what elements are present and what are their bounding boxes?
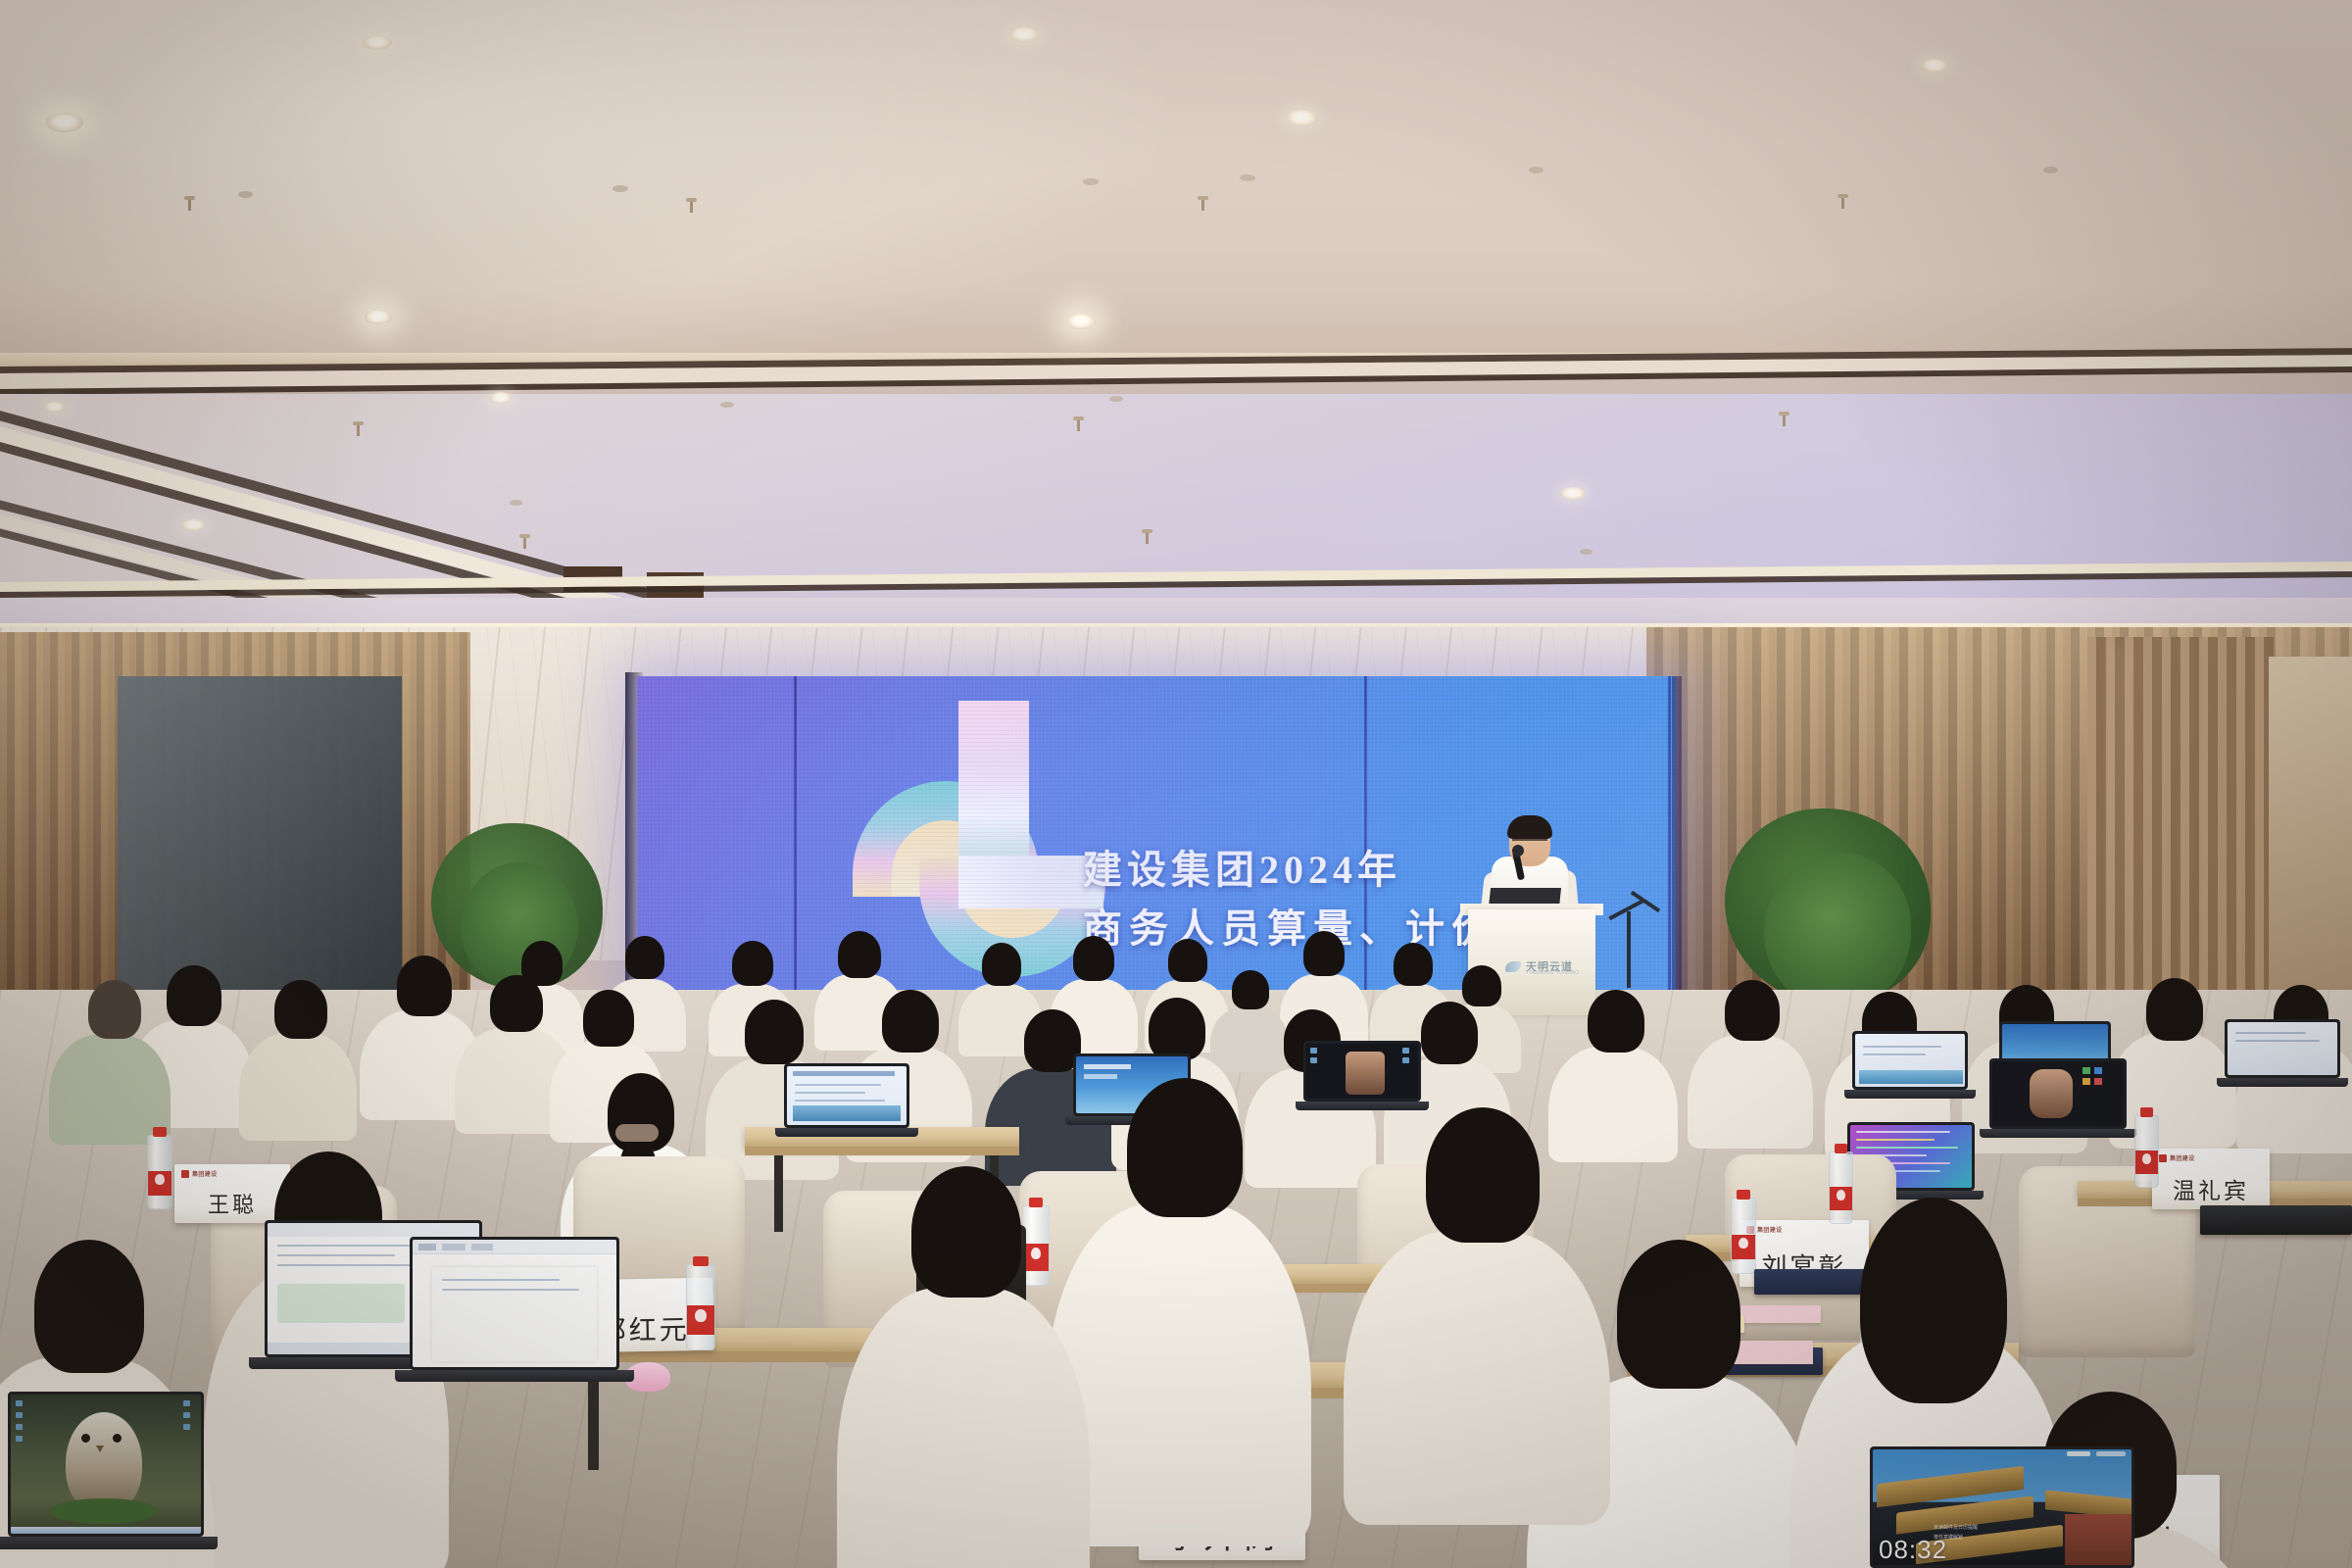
led-panel-seam: [1668, 676, 1671, 1009]
attendee-laptop[interactable]: [1852, 1031, 1968, 1090]
attendee-laptop-owl-wallpaper[interactable]: [8, 1392, 204, 1537]
notebook: [2200, 1205, 2352, 1235]
ceiling-downlight: [2043, 167, 2058, 173]
laptop-screen: [1992, 1061, 2124, 1126]
sprinkler-head-icon: [1837, 194, 1848, 210]
placard-org-logo: 集团建设: [181, 1169, 218, 1178]
slide-title-line-1: 建设集团2024年: [1083, 838, 1401, 895]
name-placard: 集团建设 王聪: [174, 1164, 290, 1223]
ceiling-downlight: [1109, 396, 1123, 402]
bottle-cap: [1835, 1144, 1847, 1153]
ceiling-downlight: [1009, 27, 1039, 42]
bottle-cap: [1029, 1198, 1044, 1207]
ceiling-downlight: [1240, 174, 1255, 181]
ceiling-downlight: [720, 402, 734, 408]
ceiling-downlight: [365, 310, 392, 324]
palace-hall: [2065, 1514, 2131, 1565]
attendee-laptop[interactable]: [784, 1063, 909, 1128]
ceiling-upper-plane: [0, 0, 2352, 365]
sprinkler-head-icon: [519, 534, 530, 550]
ceiling-downlight: [1921, 59, 1948, 73]
owl-perch: [50, 1498, 158, 1524]
ceiling-downlight: [1083, 178, 1099, 185]
ceiling-downlight: [1529, 167, 1543, 173]
bottle-label: [1732, 1235, 1755, 1260]
potted-plant-right-foliage: [1764, 853, 1911, 1009]
ceiling-downlight: [1066, 314, 1096, 329]
podium-brand-logo: 天明云道 TIANMING YUNDAO: [1505, 958, 1588, 975]
sprinkler-head-icon: [1198, 196, 1208, 212]
bottle-label: [148, 1171, 171, 1196]
bottle-label: [687, 1305, 714, 1334]
attendee-laptop[interactable]: [1303, 1041, 1421, 1102]
laptop-screen: [11, 1395, 201, 1534]
org-mark-icon: [2159, 1154, 2167, 1162]
sprinkler-head-icon: [1142, 529, 1152, 545]
logo-s-lower-inner: [958, 857, 1066, 938]
screen-bezel-right: [1672, 676, 1682, 1009]
org-mark-icon: [181, 1170, 189, 1178]
ceiling-downlight: [363, 35, 392, 50]
desk-edge: [745, 1147, 1019, 1155]
attendee-laptop-video-call[interactable]: [1989, 1058, 2127, 1129]
ceiling-downlight: [612, 185, 628, 192]
desk-leg: [774, 1155, 783, 1232]
bottle-cap: [693, 1256, 709, 1266]
logo-l-horizontal: [958, 856, 1103, 908]
laptop-screen: [787, 1066, 906, 1125]
ceiling-downlight: [1286, 110, 1317, 126]
ceiling-downlight: [510, 500, 522, 506]
attendee-laptop[interactable]: [2225, 1019, 2340, 1078]
placard-org-text: 集团建设: [1757, 1225, 1783, 1234]
sprinkler-head-icon: [1779, 412, 1789, 427]
podium-brand-subtext: TIANMING YUNDAO: [1526, 970, 1580, 976]
placard-org-text: 集团建设: [2170, 1153, 2195, 1162]
led-panel-seam: [794, 676, 797, 1009]
ceiling-downlight: [490, 392, 512, 404]
laptop-screen: 未读邮件及日历提醒 按任意键解锁 08:32: [1873, 1449, 2131, 1565]
water-bottle: [1829, 1151, 1853, 1224]
microphone-capsule: [1512, 845, 1524, 857]
water-bottle: [1731, 1198, 1756, 1274]
ceiling-downlight: [1580, 549, 1592, 555]
attendee-laptop[interactable]: [410, 1237, 619, 1370]
speaker-hair: [1507, 815, 1552, 839]
owl-beak: [96, 1445, 104, 1452]
placard-org-text: 集团建设: [192, 1169, 218, 1178]
ceiling-downlight: [1560, 487, 1586, 500]
lockscreen-info-text: [2067, 1451, 2090, 1456]
lockscreen-info-text: [2096, 1451, 2126, 1456]
owl-eye: [113, 1434, 122, 1443]
laptop-screen: [2228, 1022, 2337, 1075]
sprinkler-head-icon: [353, 421, 364, 437]
logo-s-upper-arc: [853, 781, 1039, 897]
logo-l-vertical: [958, 701, 1029, 908]
bottle-label: [1023, 1244, 1049, 1270]
placard-org-logo: 集团建设: [2159, 1153, 2195, 1162]
ceiling-downlight: [181, 519, 206, 531]
water-bottle: [2134, 1115, 2159, 1188]
ceiling-downlight: [44, 402, 66, 413]
ceiling-downlight: [46, 113, 83, 132]
swoosh-icon: [1505, 961, 1521, 972]
laptop-screen: [1855, 1034, 1965, 1087]
bottle-cap: [1737, 1190, 1749, 1200]
lockscreen-notification-1: 未读邮件及日历提醒: [1934, 1524, 1978, 1531]
led-panel-seam: [1364, 676, 1367, 1009]
sprinkler-head-icon: [686, 198, 697, 214]
attendee-laptop-lockscreen[interactable]: 未读邮件及日历提醒 按任意键解锁 08:32: [1870, 1446, 2134, 1568]
lockscreen-clock: 08:32: [1879, 1535, 1947, 1565]
conference-room-photo: 建设集团2024年 商务人员算量、计价培训 天明云道 TIANMING YUND…: [0, 0, 2352, 1568]
ceiling-downlight: [238, 191, 253, 198]
windows-taskbar[interactable]: [11, 1527, 201, 1534]
bottle-cap: [153, 1127, 166, 1137]
name-placard: 集团建设 温礼宾: [2152, 1149, 2270, 1209]
water-bottle: [147, 1135, 172, 1209]
owl-eye: [81, 1434, 90, 1443]
mic-stand: [1627, 911, 1631, 988]
bottle-cap: [2140, 1107, 2153, 1117]
bottle-label: [2135, 1151, 2158, 1174]
laptop-screen: [413, 1240, 616, 1367]
sprinkler-head-icon: [184, 196, 195, 212]
water-bottle: [1022, 1205, 1050, 1286]
bottle-label: [1830, 1187, 1852, 1210]
water-bottle: [686, 1264, 715, 1350]
sprinkler-head-icon: [1073, 416, 1084, 432]
logo-s-upper-inner: [892, 820, 1000, 897]
placard-name: 王聪: [208, 1195, 257, 1223]
laptop-screen: [1306, 1044, 1418, 1099]
